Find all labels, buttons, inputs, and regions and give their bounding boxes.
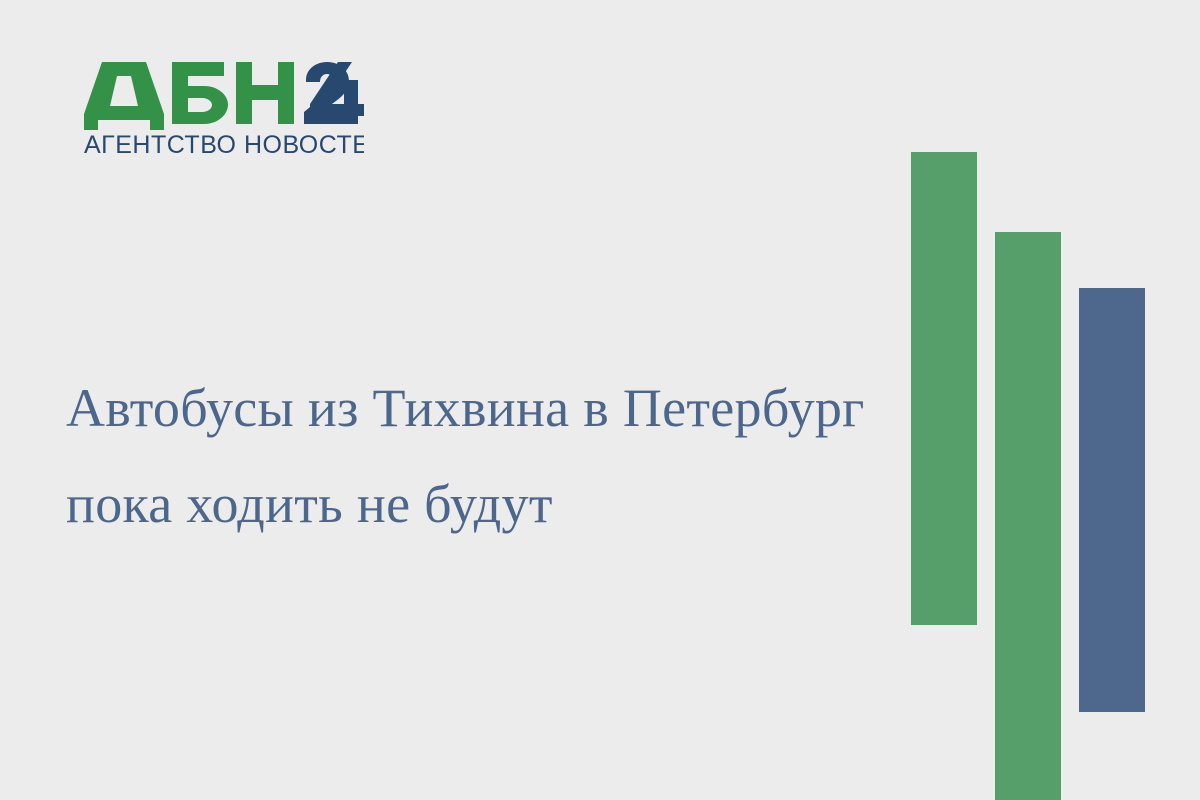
page-title: Автобусы из Тихвина в Петербург пока ход… — [66, 360, 866, 552]
logo-mark-icon — [84, 62, 364, 130]
decorative-bar-green-tall — [911, 152, 977, 625]
logo-tagline-label: АГЕНТСТВО НОВОСТЕЙ — [84, 130, 364, 159]
logo-tagline-text: АГЕНТСТВО НОВОСТЕЙ — [84, 130, 364, 160]
decorative-bar-green-medium — [995, 232, 1061, 800]
decorative-bar-blue — [1079, 288, 1145, 712]
brand-logo[interactable]: АГЕНТСТВО НОВОСТЕЙ — [84, 62, 374, 162]
article-card: АГЕНТСТВО НОВОСТЕЙ Автобусы из Тихвина в… — [0, 0, 1200, 800]
